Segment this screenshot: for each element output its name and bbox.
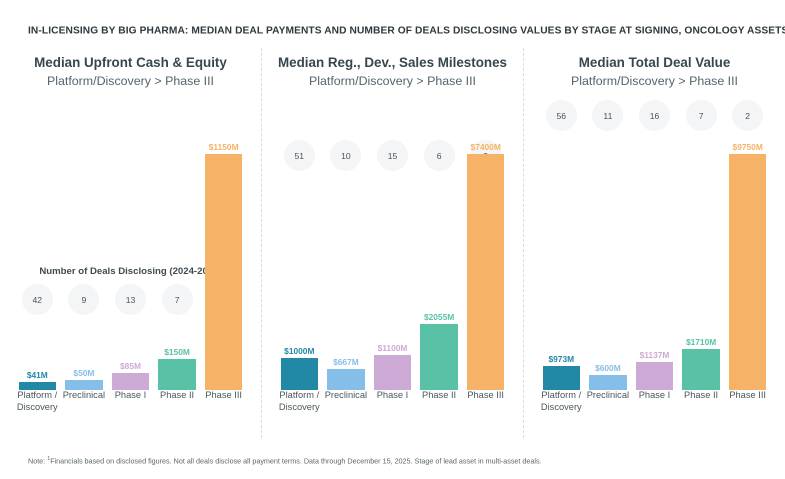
bar-value-label: $2055M [424,312,454,322]
bar-cell[interactable]: $150M [154,140,201,390]
bar-value-label: $41M [27,370,48,380]
bar-cell[interactable]: $667M [323,140,370,390]
panel-title: Median Total Deal Value [538,54,771,71]
page-title-text: IN-LICENSING BY BIG PHARMA: MEDIAN DEAL … [28,25,785,36]
x-axis-labels: Platform / DiscoveryPreclinicalPhase IPh… [14,390,247,430]
x-axis-label: Phase I [369,390,416,402]
deal-count-badge: 56 [546,100,577,131]
chart-panel-1: Median Upfront Cash & EquityPlatform/Dis… [0,48,261,438]
deal-counts-row: 56111672 [538,100,771,131]
bar-cell[interactable]: $9750M [724,140,771,390]
x-axis-label: Preclinical [61,390,108,402]
bar[interactable] [729,154,766,390]
bar[interactable] [327,369,364,390]
bar-cell[interactable]: $41M [14,140,61,390]
bar-value-label: $150M [164,347,190,357]
x-axis-label: Phase II [416,390,463,402]
bar[interactable] [65,380,102,390]
panel-title: Median Reg., Dev., Sales Milestones [276,54,509,71]
footnote-prefix: Note: [28,456,47,465]
bar-cell[interactable]: $1150M [200,140,247,390]
deal-count-cell: 16 [631,100,678,131]
bar[interactable] [158,359,195,390]
bar[interactable] [543,366,580,390]
bar-cell[interactable]: $1100M [369,140,416,390]
bar-cell[interactable]: $2055M [416,140,463,390]
bar-value-label: $1137M [640,350,670,360]
bars-plot-area: $1000M$667M$1100M$2055M$7400M [276,140,509,390]
footnote-text: Financials based on disclosed figures. N… [50,456,541,465]
bar[interactable] [281,358,318,390]
deal-count-cell: 11 [585,100,632,131]
panel-title: Median Upfront Cash & Equity [14,54,247,71]
bar-cell[interactable]: $1137M [631,140,678,390]
x-axis-labels: Platform / DiscoveryPreclinicalPhase IPh… [276,390,509,430]
bar-value-label: $1710M [686,337,716,347]
deal-count-cell: 2 [724,100,771,131]
bar-value-label: $50M [73,368,94,378]
bars-plot-area: $41M$50M$85M$150M$1150M [14,140,247,390]
x-axis-labels: Platform / DiscoveryPreclinicalPhase IPh… [538,390,771,430]
x-axis-label: Phase II [678,390,725,402]
bar[interactable] [205,154,242,390]
bar-value-label: $85M [120,361,141,371]
bar[interactable] [467,154,504,390]
bar-cell[interactable]: $600M [585,140,632,390]
bars-plot-area: $973M$600M$1137M$1710M$9750M [538,140,771,390]
panel-subtitle: Platform/Discovery > Phase III [538,73,771,89]
bar[interactable] [19,382,56,390]
deal-count-badge: 11 [592,100,623,131]
x-axis-label: Phase III [200,390,247,402]
bar-value-label: $9750M [733,142,763,152]
bar-value-label: $600M [595,363,621,373]
bar-cell[interactable]: $50M [61,140,108,390]
bar-value-label: $1150M [209,142,239,152]
x-axis-label: Phase III [724,390,771,402]
x-axis-label: Preclinical [323,390,370,402]
bar[interactable] [112,373,149,390]
bar[interactable] [420,324,457,390]
bar-value-label: $7400M [471,142,501,152]
x-axis-label: Phase III [462,390,509,402]
bar-cell[interactable]: $85M [107,140,154,390]
deal-count-cell: 56 [538,100,585,131]
x-axis-label: Phase II [154,390,201,402]
panel-subtitle: Platform/Discovery > Phase III [14,73,247,89]
footnote: Note: 1Financials based on disclosed fig… [28,456,758,465]
bar-value-label: $1100M [378,343,408,353]
deal-count-badge: 7 [686,100,717,131]
bar-cell[interactable]: $1710M [678,140,725,390]
bar[interactable] [636,362,673,390]
x-axis-label: Platform / Discovery [276,390,323,413]
deal-count-badge: 2 [732,100,763,131]
x-axis-label: Preclinical [585,390,632,402]
bar[interactable] [374,355,411,390]
bar[interactable] [589,375,626,390]
bar-value-label: $667M [333,357,359,367]
bar-value-label: $1000M [284,346,314,356]
bar-cell[interactable]: $1000M [276,140,323,390]
deal-count-badge: 16 [639,100,670,131]
bar-cell[interactable]: $973M [538,140,585,390]
bar[interactable] [682,349,719,390]
chart-panel-3: Median Total Deal ValuePlatform/Discover… [523,48,785,438]
chart-panels: Median Upfront Cash & EquityPlatform/Dis… [0,48,785,438]
x-axis-label: Platform / Discovery [14,390,61,413]
deal-count-cell: 7 [678,100,725,131]
bar-cell[interactable]: $7400M [462,140,509,390]
bar-value-label: $973M [548,354,574,364]
page-title: IN-LICENSING BY BIG PHARMA: MEDIAN DEAL … [28,24,768,36]
x-axis-label: Phase I [107,390,154,402]
chart-panel-2: Median Reg., Dev., Sales MilestonesPlatf… [261,48,523,438]
x-axis-label: Platform / Discovery [538,390,585,413]
x-axis-label: Phase I [631,390,678,402]
panel-subtitle: Platform/Discovery > Phase III [276,73,509,89]
